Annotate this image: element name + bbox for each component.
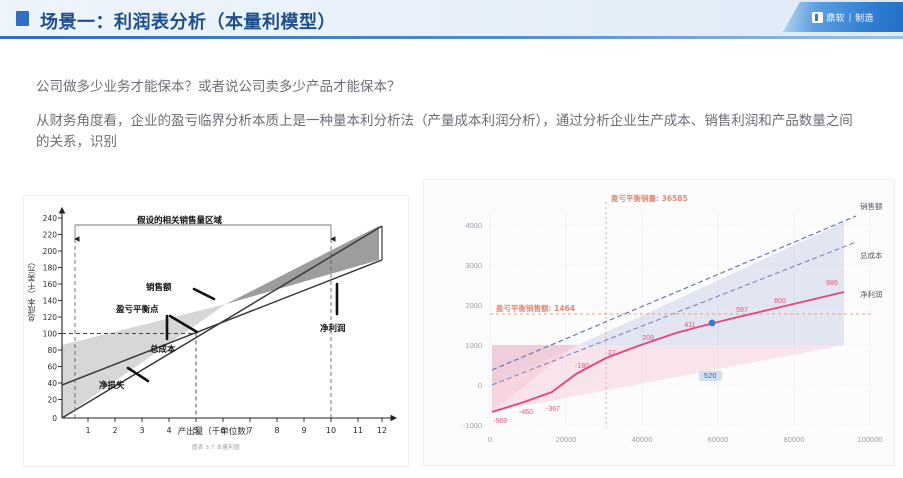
ytick-1000: 1000 [465,341,482,350]
series-label-cost: 总成本 [860,250,883,260]
xtick-100000: 100000 [857,435,882,444]
svg-text:240: 240 [43,214,58,223]
logo-separator: | [849,12,851,22]
ytick-neg1000: -1000 [463,421,482,430]
svg-text:140: 140 [43,297,58,306]
ytick-3000: 3000 [465,261,482,270]
highlight-data-point [709,320,716,327]
point-label--569: -569 [493,418,507,425]
svg-text:40: 40 [47,379,57,388]
left-chart-ylabel: 总成本（千美元） [27,258,39,322]
svg-text:60: 60 [47,363,57,372]
svg-text:120: 120 [43,313,58,322]
svg-text:100: 100 [43,330,58,339]
ytick-0: 0 [478,381,482,390]
point-label-411: 411 [684,322,695,329]
paragraph-explanation: 从财务角度看，企业的盈亏临界分析本质上是一种量本利分析法（产量成本利润分析），通… [36,110,866,152]
xtick-20000: 20000 [556,435,577,444]
point-label-986: 986 [826,280,838,287]
series-label-sales: 销售额 [860,201,883,211]
logo-mark-icon [812,12,823,23]
left-chart-xlabel: 产出量（千单位数） [24,425,408,437]
left-anno-range: 假设的相关销售量区域 [137,215,223,226]
xtick-60000: 60000 [708,435,729,444]
brand-logo: 鼎软 | 制造 [783,2,903,32]
svg-text:220: 220 [43,231,58,240]
highlight-value-badge: 520 [699,371,722,381]
svg-text:80: 80 [47,346,57,355]
page-title: 场景一：利润表分析（本量利模型） [40,8,336,34]
header-divider [0,36,903,39]
series-label-netprofit: 净利润 [860,289,883,299]
xtick-0: 0 [488,435,492,444]
svg-text:160: 160 [43,280,58,289]
left-anno-loss: 净损失 [99,380,125,391]
svg-text:200: 200 [43,247,58,256]
xtick-80000: 80000 [784,435,805,444]
point-label-597: 597 [736,307,748,314]
svg-text:180: 180 [43,264,58,273]
right-breakeven-chart: 4000 3000 2000 1000 0 -1000 0 20000 4000… [424,180,894,465]
paragraph-question: 公司做多少业务才能保本？或者说公司卖多少产品才能保本？ [36,76,856,97]
svg-text:0: 0 [52,414,57,423]
anno-breakeven-volume: 盈亏平衡销量: 36585 [610,193,688,203]
point-label-22: 22 [608,350,616,357]
left-anno-sales: 销售额 [146,282,172,293]
anno-breakeven-revenue: 盈亏平衡销售额: 1464 [495,303,575,313]
logo-brand: 鼎软 [826,11,845,24]
ytick-4000: 4000 [465,221,482,230]
xtick-40000: 40000 [632,435,653,444]
point-label--367: -367 [546,406,560,413]
point-label--180: -180 [575,363,589,370]
logo-suffix: 制造 [855,11,874,24]
left-anno-breakeven: 盈亏平衡点 [115,304,159,315]
blue-square-icon [16,11,29,26]
point-label-800: 800 [774,298,786,305]
slide-root: 场景一：利润表分析（本量利模型） 鼎软 | 制造 公司做多少业务才能保本？或者说… [0,0,903,478]
point-label-209: 209 [642,335,654,342]
point-label--460: -460 [519,409,533,416]
left-anno-cost: 总成本 [150,344,176,355]
svg-text:20: 20 [47,396,57,405]
left-anno-profit: 净利润 [320,323,346,334]
ytick-2000: 2000 [465,301,482,310]
left-chart-caption: 图表 3.7 本量利图 [24,443,408,451]
